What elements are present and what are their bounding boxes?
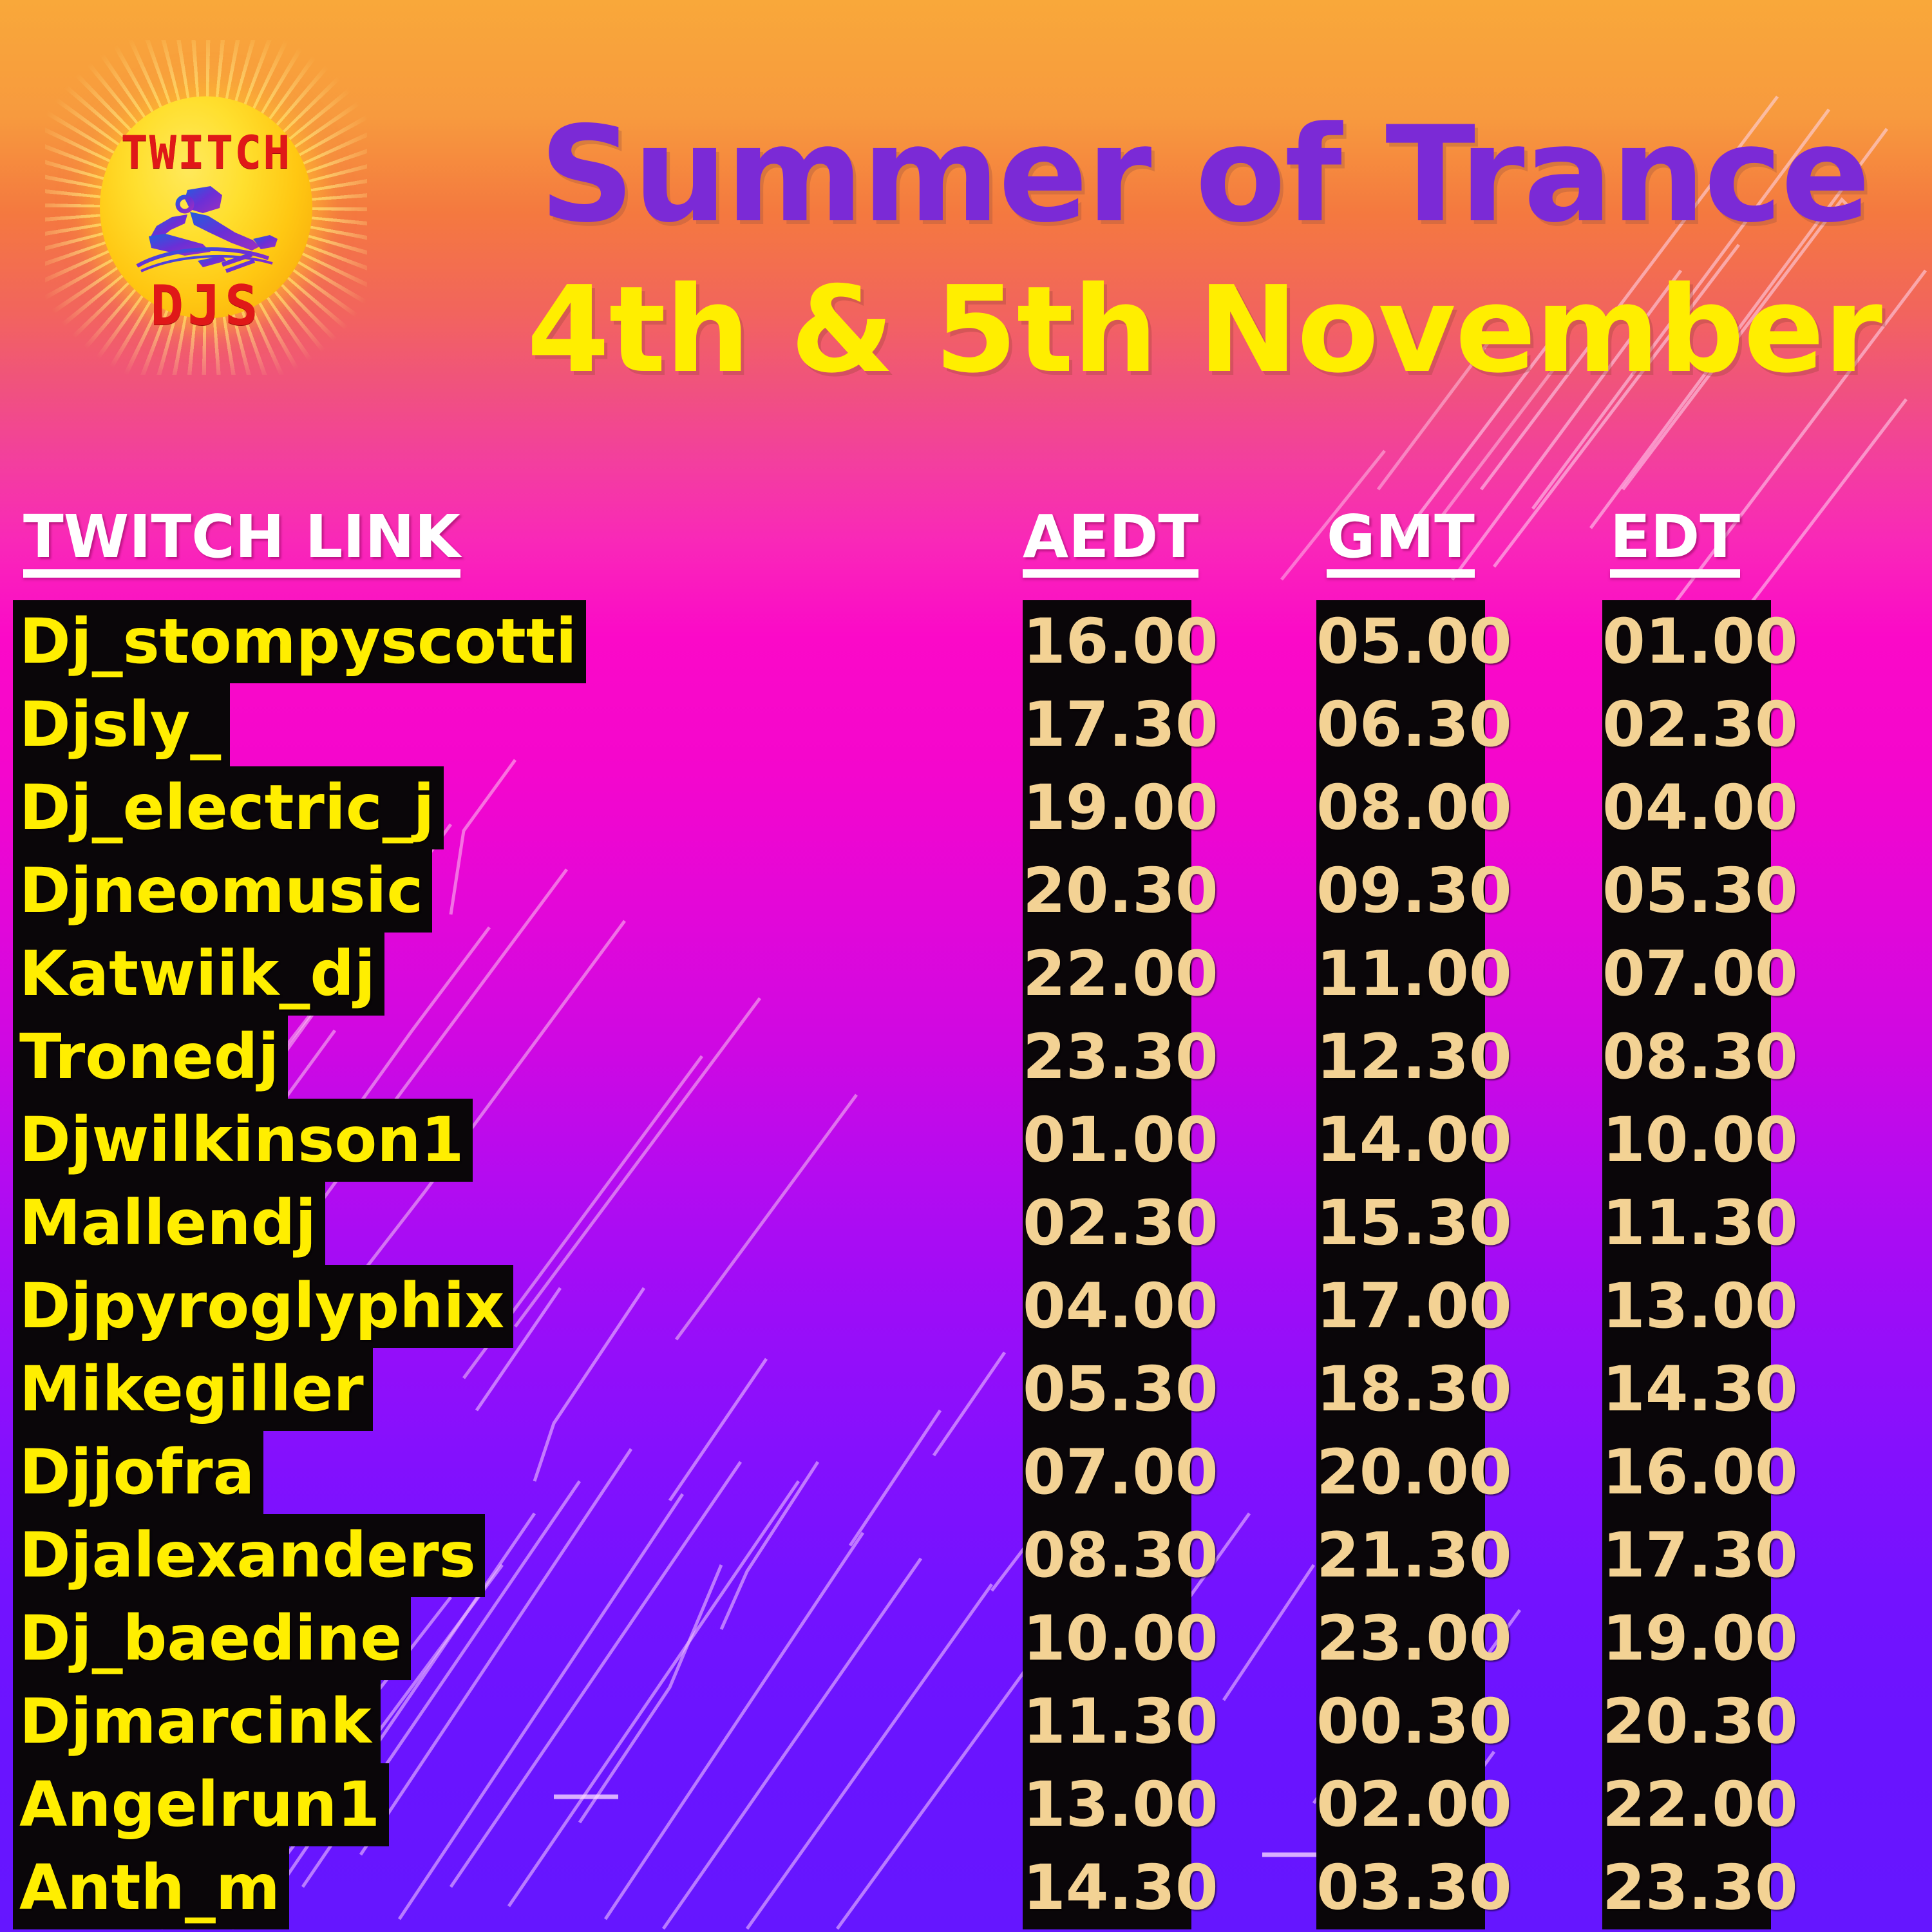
table-row: 14.30: [1023, 1846, 1191, 1929]
table-row: 07.00: [1602, 933, 1771, 1016]
table-row: 12.30: [1316, 1016, 1485, 1099]
aedt-time-cell: 22.00: [1023, 933, 1191, 1016]
table-row: 05.30: [1602, 849, 1771, 933]
twitch-link-name[interactable]: Tronedj: [13, 1016, 288, 1099]
column-header-aedt: AEDT: [1023, 507, 1198, 578]
table-row: 20.30: [1023, 849, 1191, 933]
table-row: 08.00: [1316, 766, 1485, 849]
twitch-link-name[interactable]: Anth_m: [13, 1846, 289, 1929]
aedt-time-cell: 02.30: [1023, 1182, 1191, 1265]
table-row: 16.00: [1023, 600, 1191, 683]
table-row: 01.00: [1023, 1099, 1191, 1182]
gmt-time-cell: 23.00: [1316, 1597, 1485, 1680]
table-row: Djsly_: [13, 683, 657, 766]
table-row: 14.00: [1316, 1099, 1485, 1182]
table-row: 05.30: [1023, 1348, 1191, 1431]
gmt-time-cell: 03.30: [1316, 1846, 1485, 1929]
aedt-time-cell: 10.00: [1023, 1597, 1191, 1680]
column-header-edt: EDT: [1610, 507, 1740, 578]
twitch-link-name[interactable]: Djmarcink: [13, 1680, 381, 1763]
table-row: 20.30: [1602, 1680, 1771, 1763]
twitch-link-name[interactable]: Djsly_: [13, 683, 230, 766]
edt-time-cell: 08.30: [1602, 1016, 1771, 1099]
table-row: 11.30: [1023, 1680, 1191, 1763]
table-row: 08.30: [1602, 1016, 1771, 1099]
gmt-column: 05.0006.3008.0009.3011.0012.3014.0015.30…: [1316, 600, 1485, 1929]
table-row: 01.00: [1602, 600, 1771, 683]
edt-time-cell: 17.30: [1602, 1514, 1771, 1597]
column-header-twitch-link: TWITCH LINK: [23, 507, 460, 578]
edt-time-cell: 01.00: [1602, 600, 1771, 683]
aedt-time-cell: 07.00: [1023, 1431, 1191, 1514]
table-row: 17.30: [1023, 683, 1191, 766]
twitch-link-column: Dj_stompyscottiDjsly_Dj_electric_jDjneom…: [13, 600, 657, 1929]
table-row: Dj_baedine: [13, 1597, 657, 1680]
table-row: 13.00: [1602, 1265, 1771, 1348]
twitch-link-name[interactable]: Mallendj: [13, 1182, 325, 1265]
table-row: Katwiik_dj: [13, 933, 657, 1016]
gmt-time-cell: 14.00: [1316, 1099, 1485, 1182]
table-row: Djwilkinson1: [13, 1099, 657, 1182]
aedt-time-cell: 05.30: [1023, 1348, 1191, 1431]
gmt-time-cell: 15.30: [1316, 1182, 1485, 1265]
twitch-djs-logo: TWITCH: [45, 40, 367, 375]
table-row: Angelrun1: [13, 1763, 657, 1846]
table-row: Dj_stompyscotti: [13, 600, 657, 683]
dj-turntable-icon: [126, 185, 287, 281]
table-row: 22.00: [1023, 933, 1191, 1016]
twitch-link-name[interactable]: Djpyroglyphix: [13, 1265, 513, 1348]
table-row: Dj_electric_j: [13, 766, 657, 849]
aedt-time-cell: 11.30: [1023, 1680, 1191, 1763]
gmt-time-cell: 05.00: [1316, 600, 1485, 683]
twitch-link-name[interactable]: Katwiik_dj: [13, 933, 384, 1016]
aedt-time-cell: 19.00: [1023, 766, 1191, 849]
edt-time-cell: 10.00: [1602, 1099, 1771, 1182]
table-row: 04.00: [1023, 1265, 1191, 1348]
table-row: 08.30: [1023, 1514, 1191, 1597]
table-row: Djjofra: [13, 1431, 657, 1514]
gmt-time-cell: 06.30: [1316, 683, 1485, 766]
table-row: Djalexanders: [13, 1514, 657, 1597]
edt-column: 01.0002.3004.0005.3007.0008.3010.0011.30…: [1602, 600, 1771, 1929]
table-row: 05.00: [1316, 600, 1485, 683]
table-row: 23.00: [1316, 1597, 1485, 1680]
aedt-time-cell: 08.30: [1023, 1514, 1191, 1597]
column-header-aedt-label: AEDT: [1023, 502, 1198, 571]
edt-time-cell: 23.30: [1602, 1846, 1771, 1929]
aedt-time-cell: 04.00: [1023, 1265, 1191, 1348]
edt-time-cell: 07.00: [1602, 933, 1771, 1016]
table-row: 13.00: [1023, 1763, 1191, 1846]
table-row: 04.00: [1602, 766, 1771, 849]
edt-time-cell: 05.30: [1602, 849, 1771, 933]
table-row: 18.30: [1316, 1348, 1485, 1431]
table-row: 11.30: [1602, 1182, 1771, 1265]
aedt-time-cell: 20.30: [1023, 849, 1191, 933]
edt-time-cell: 19.00: [1602, 1597, 1771, 1680]
table-row: Djmarcink: [13, 1680, 657, 1763]
table-row: 17.00: [1316, 1265, 1485, 1348]
twitch-link-name[interactable]: Mikegiller: [13, 1348, 373, 1431]
edt-time-cell: 20.30: [1602, 1680, 1771, 1763]
table-row: 02.00: [1316, 1763, 1485, 1846]
table-row: 14.30: [1602, 1348, 1771, 1431]
edt-time-cell: 02.30: [1602, 683, 1771, 766]
table-row: 17.30: [1602, 1514, 1771, 1597]
table-row: 19.00: [1602, 1597, 1771, 1680]
gmt-time-cell: 09.30: [1316, 849, 1485, 933]
twitch-link-name[interactable]: Dj_electric_j: [13, 766, 444, 849]
table-row: 06.30: [1316, 683, 1485, 766]
table-row: 19.00: [1023, 766, 1191, 849]
aedt-time-cell: 23.30: [1023, 1016, 1191, 1099]
table-row: 16.00: [1602, 1431, 1771, 1514]
edt-time-cell: 04.00: [1602, 766, 1771, 849]
twitch-link-name[interactable]: Dj_stompyscotti: [13, 600, 586, 683]
gmt-time-cell: 21.30: [1316, 1514, 1485, 1597]
aedt-time-cell: 01.00: [1023, 1099, 1191, 1182]
twitch-link-name[interactable]: Djneomusic: [13, 849, 432, 933]
table-row: 22.00: [1602, 1763, 1771, 1846]
table-row: Djneomusic: [13, 849, 657, 933]
aedt-column: 16.0017.3019.0020.3022.0023.3001.0002.30…: [1023, 600, 1191, 1929]
logo-bottom-text: DJS: [45, 278, 367, 334]
edt-time-cell: 14.30: [1602, 1348, 1771, 1431]
table-row: 21.30: [1316, 1514, 1485, 1597]
edt-time-cell: 16.00: [1602, 1431, 1771, 1514]
edt-time-cell: 22.00: [1602, 1763, 1771, 1846]
table-row: 15.30: [1316, 1182, 1485, 1265]
aedt-time-cell: 16.00: [1023, 600, 1191, 683]
table-row: Djpyroglyphix: [13, 1265, 657, 1348]
gmt-time-cell: 18.30: [1316, 1348, 1485, 1431]
table-row: 03.30: [1316, 1846, 1485, 1929]
gmt-time-cell: 00.30: [1316, 1680, 1485, 1763]
table-row: 23.30: [1602, 1846, 1771, 1929]
gmt-time-cell: 17.00: [1316, 1265, 1485, 1348]
twitch-link-name[interactable]: Angelrun1: [13, 1763, 389, 1846]
table-row: Anth_m: [13, 1846, 657, 1929]
poster-canvas: TWITCH: [0, 0, 1932, 1932]
table-row: Mallendj: [13, 1182, 657, 1265]
aedt-time-cell: 14.30: [1023, 1846, 1191, 1929]
table-row: Mikegiller: [13, 1348, 657, 1431]
column-header-twitch-link-label: TWITCH LINK: [23, 502, 460, 571]
column-header-edt-label: EDT: [1610, 502, 1740, 571]
gmt-time-cell: 20.00: [1316, 1431, 1485, 1514]
poster-subtitle: 4th & 5th November: [489, 270, 1919, 390]
column-header-gmt: GMT: [1327, 507, 1475, 578]
table-row: 07.00: [1023, 1431, 1191, 1514]
gmt-time-cell: 12.30: [1316, 1016, 1485, 1099]
table-row: 11.00: [1316, 933, 1485, 1016]
table-row: 10.00: [1023, 1597, 1191, 1680]
aedt-time-cell: 17.30: [1023, 683, 1191, 766]
table-row: 09.30: [1316, 849, 1485, 933]
table-row: 02.30: [1023, 1182, 1191, 1265]
twitch-link-name[interactable]: Djwilkinson1: [13, 1099, 473, 1182]
table-row: 20.00: [1316, 1431, 1485, 1514]
gmt-time-cell: 08.00: [1316, 766, 1485, 849]
table-row: 23.30: [1023, 1016, 1191, 1099]
edt-time-cell: 13.00: [1602, 1265, 1771, 1348]
column-header-gmt-label: GMT: [1327, 502, 1475, 571]
aedt-time-cell: 13.00: [1023, 1763, 1191, 1846]
twitch-link-name[interactable]: Dj_baedine: [13, 1597, 411, 1680]
gmt-time-cell: 11.00: [1316, 933, 1485, 1016]
poster-title: Summer of Trance: [489, 109, 1919, 241]
twitch-link-name[interactable]: Djalexanders: [13, 1514, 485, 1597]
table-row: 10.00: [1602, 1099, 1771, 1182]
table-row: Tronedj: [13, 1016, 657, 1099]
table-row: 02.30: [1602, 683, 1771, 766]
logo-top-text: TWITCH: [45, 130, 367, 175]
table-row: 00.30: [1316, 1680, 1485, 1763]
gmt-time-cell: 02.00: [1316, 1763, 1485, 1846]
twitch-link-name[interactable]: Djjofra: [13, 1431, 263, 1514]
edt-time-cell: 11.30: [1602, 1182, 1771, 1265]
